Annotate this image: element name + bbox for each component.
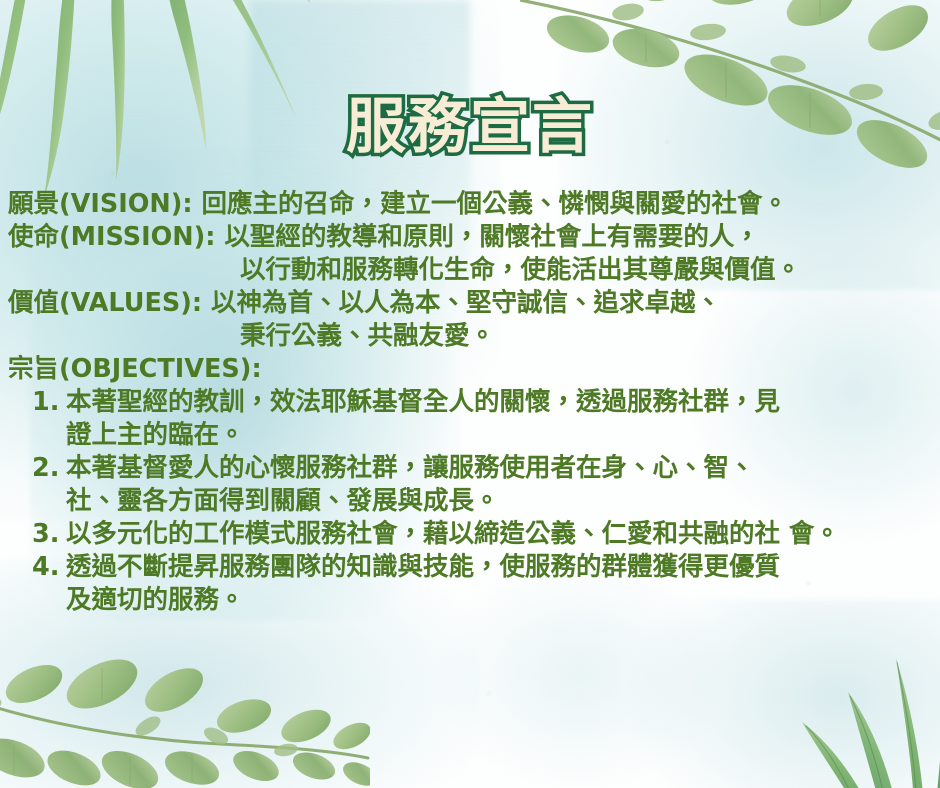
list-item-number: 3.: [32, 518, 66, 551]
list-item-body: 本著基督愛人的心懷服務社群，讓服務使用者在身、心、智、 社、靈各方面得到關顧、發…: [66, 453, 755, 516]
list-item-body: 以多元化的工作模式服務社會，藉以締造公義、仁愛和共融的社 會。: [66, 519, 840, 549]
olive-branch-bottom-icon: [0, 640, 370, 788]
list-item-line: 會。: [789, 519, 840, 549]
declaration-body: 願景(VISION): 回應主的召命，建立一個公義、憐憫與關愛的社會。 使命(M…: [0, 188, 940, 617]
list-item-number: 1.: [32, 386, 66, 419]
list-item-line: 以多元化的工作模式服務社會，藉以締造公義、仁愛和共融的社: [66, 519, 780, 549]
objectives-heading: 宗旨(OBJECTIVES):: [0, 353, 940, 386]
mission-line-1: 使命(MISSION): 以聖經的教導和原則，關懷社會上有需要的人，: [0, 221, 940, 254]
mission-line-2: 以行動和服務轉化生命，使能活出其尊嚴與價值。: [0, 254, 940, 287]
vision-line-1: 願景(VISION): 回應主的召命，建立一個公義、憐憫與關愛的社會。: [0, 188, 940, 221]
values-line-2: 秉行公義、共融友愛。: [0, 320, 940, 353]
list-item-body: 本著聖經的教訓，效法耶穌基督全人的關懷，透過服務社群，見 證上主的臨在。: [66, 387, 780, 450]
list-item: 3. 以多元化的工作模式服務社會，藉以締造公義、仁愛和共融的社 會。: [0, 518, 940, 551]
page-title: 服務宣言: [346, 96, 594, 159]
list-item-line: 證上主的臨在。: [66, 420, 245, 450]
list-item-line: 本著聖經的教訓，效法耶穌基督全人的關懷，透過服務社群，見: [66, 387, 780, 417]
list-item: 4. 透過不斷提昇服務團隊的知識與技能，使服務的群體獲得更優質 及適切的服務。: [0, 551, 940, 617]
grass-blades-icon: [740, 630, 940, 788]
objectives-list: 1. 本著聖經的教訓，效法耶穌基督全人的關懷，透過服務社群，見 證上主的臨在。 …: [0, 386, 940, 617]
list-item: 2. 本著基督愛人的心懷服務社群，讓服務使用者在身、心、智、 社、靈各方面得到關…: [0, 452, 940, 518]
title-container: 服務宣言: [0, 96, 940, 159]
list-item-body: 透過不斷提昇服務團隊的知識與技能，使服務的群體獲得更優質 及適切的服務。: [66, 552, 780, 615]
list-item-line: 透過不斷提昇服務團隊的知識與技能，使服務的群體獲得更優質: [66, 552, 780, 582]
watercolor-wash-bottom-right: [630, 600, 940, 788]
list-item-number: 2.: [32, 452, 66, 485]
list-item-line: 及適切的服務。: [66, 585, 245, 615]
values-line-1: 價值(VALUES): 以神為首、以人為本、堅守誠信、追求卓越、: [0, 287, 940, 320]
list-item-number: 4.: [32, 551, 66, 584]
list-item-line: 本著基督愛人的心懷服務社群，讓服務使用者在身、心、智、: [66, 453, 755, 483]
list-item: 1. 本著聖經的教訓，效法耶穌基督全人的關懷，透過服務社群，見 證上主的臨在。: [0, 386, 940, 452]
list-item-line: 社、靈各方面得到關顧、發展與成長。: [66, 486, 500, 516]
slide-canvas: 服務宣言 願景(VISION): 回應主的召命，建立一個公義、憐憫與關愛的社會。…: [0, 0, 940, 788]
